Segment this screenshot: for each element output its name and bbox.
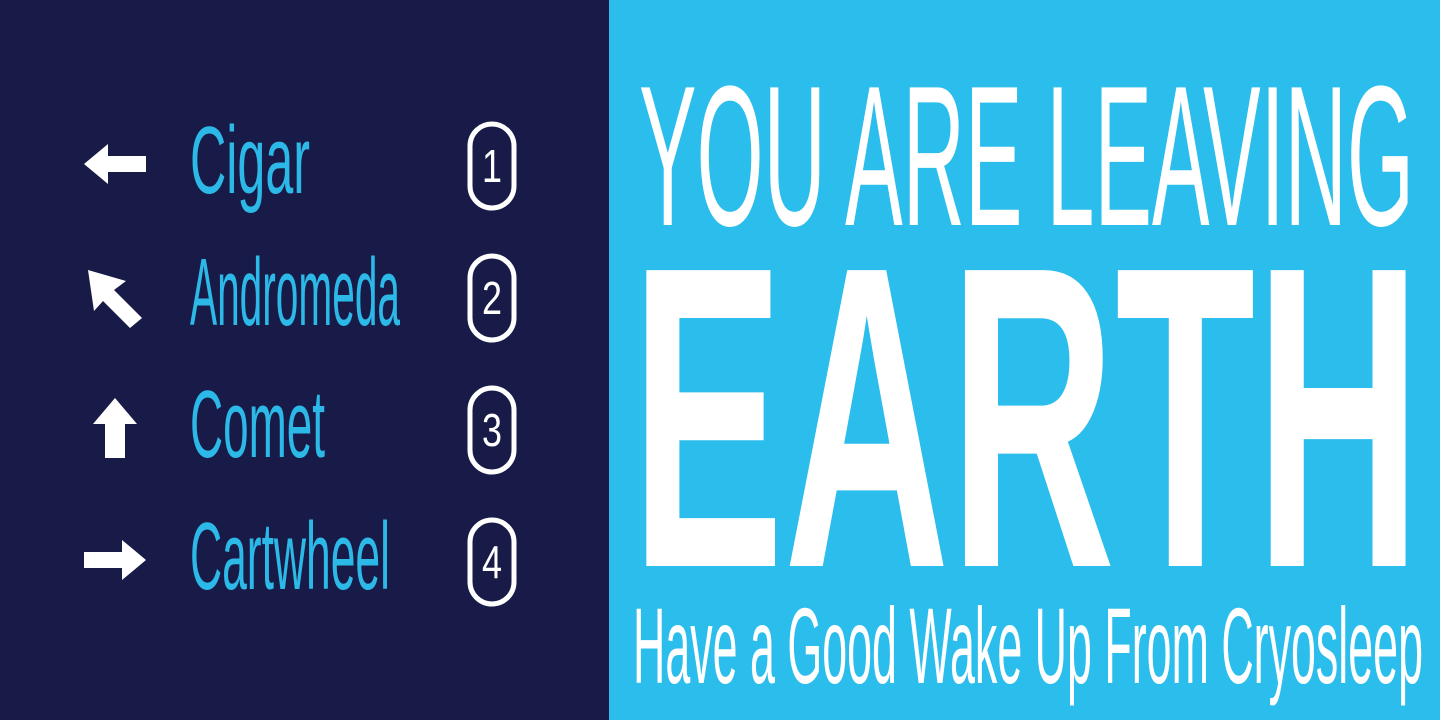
arrow-right-icon (82, 528, 148, 592)
tagline: Have a Good Wake Up From Cryosleep (633, 590, 1423, 706)
headline-line-2: EARTH (631, 248, 1421, 578)
list-item-label-wrap: Cigar (190, 98, 460, 230)
list-item[interactable]: Andromeda 2 (0, 230, 609, 362)
headline-line-1-wrap: YOU ARE LEAVING (639, 40, 1414, 240)
badge-number: 3 (482, 404, 502, 456)
badge-number: 4 (482, 536, 502, 588)
list-item-label: Andromeda (190, 239, 400, 346)
galaxy-nav-list: Cigar 1 (0, 0, 609, 720)
badge-4: 4 (466, 516, 518, 608)
badge-2: 2 (466, 252, 518, 344)
arrow-up-icon (82, 396, 148, 460)
list-item-label: Cigar (190, 107, 310, 214)
arrow-up-left-icon (82, 264, 148, 328)
badge-1: 1 (466, 120, 518, 212)
badge-3: 3 (466, 384, 518, 476)
list-item[interactable]: Cartwheel 4 (0, 494, 609, 626)
list-item-label: Comet (190, 371, 325, 478)
tagline-wrap: Have a Good Wake Up From Cryosleep (633, 590, 1423, 710)
headline-block: YOU ARE LEAVING EARTH Have a Good Wake U… (609, 0, 1440, 720)
list-item-label: Cartwheel (190, 503, 390, 610)
list-item[interactable]: Cigar 1 (0, 98, 609, 230)
left-panel: Cigar 1 (0, 0, 609, 720)
headline-line-1: YOU ARE LEAVING (639, 45, 1414, 240)
badge-number: 2 (482, 272, 502, 324)
right-panel: YOU ARE LEAVING EARTH Have a Good Wake U… (609, 0, 1440, 720)
type-specimen-poster: Cigar 1 (0, 0, 1440, 720)
list-item-label-wrap: Comet (190, 362, 460, 494)
list-item-label-wrap: Cartwheel (190, 494, 460, 626)
arrow-left-icon (82, 132, 148, 196)
badge-number: 1 (482, 140, 502, 192)
list-item-label-wrap: Andromeda (190, 230, 460, 362)
headline-line-2-wrap: EARTH (631, 248, 1421, 578)
list-item[interactable]: Comet 3 (0, 362, 609, 494)
